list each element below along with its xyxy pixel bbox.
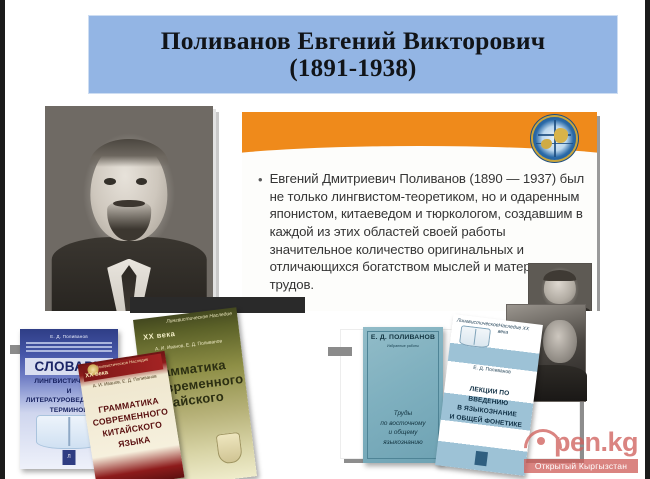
globe-landmass-2 [541, 139, 552, 149]
book-dictionary-rule-3 [26, 350, 112, 352]
book-dictionary-publisher-logo: Л [63, 450, 76, 465]
shelf-grey-bar-mid [328, 347, 352, 356]
book-lectures-author: Е. Д. Поливанов [447, 362, 537, 379]
book-blue-title: Труды по восточному и общему языкознанию [373, 409, 433, 447]
book-blue-subtitle: Избранные работы [369, 344, 437, 348]
shelf-photo-head [543, 320, 577, 362]
book-chinese-title: ГРАММАТИКА СОВРЕМЕННОГО КИТАЙСКОГО ЯЗЫКА [88, 393, 175, 454]
book-dictionary-rule-2 [26, 346, 112, 348]
open-book-icon [459, 325, 491, 349]
portrait-frame [45, 106, 213, 324]
watermark-brand: pen.kg [554, 427, 638, 458]
book-blue-author: Е. Д. ПОЛИВАНОВ [363, 334, 443, 341]
portrait-eye-left [104, 178, 116, 185]
watermark-dot-icon [537, 437, 545, 445]
page-title: Поливанов Евгений Викторович [161, 27, 546, 54]
book-green-illustration [216, 432, 243, 465]
book-lectures-series-right: Наследие XX века [497, 323, 539, 343]
book-cover-trudy-blue[interactable]: Е. Д. ПОЛИВАНОВ Избранные работы Труды п… [363, 327, 443, 463]
book-lectures-publisher-logo [474, 451, 488, 466]
portrait-hair [90, 139, 169, 167]
portrait-photo-polivanov [45, 106, 213, 324]
watermark-tagline: Открытый Кыргызстан [524, 459, 638, 473]
book-dictionary-author: Е. Д. Поливанов [20, 334, 118, 339]
slide-title-bar: Поливанов Евгений Викторович (1891-1938) [89, 16, 617, 93]
book-dictionary-rule-1 [26, 342, 112, 344]
presentation-slide: Поливанов Евгений Викторович (1891-1938) [0, 0, 650, 479]
bullet-marker-icon: • [258, 170, 263, 293]
inset-photo-hair [543, 270, 576, 281]
page-subtitle-years: (1891-1938) [289, 56, 416, 83]
watermark-openkg[interactable]: pen.kg Открытый Кыргызстан [518, 423, 640, 475]
globe-landmass [554, 128, 569, 143]
globe-emblem-icon [533, 117, 576, 160]
